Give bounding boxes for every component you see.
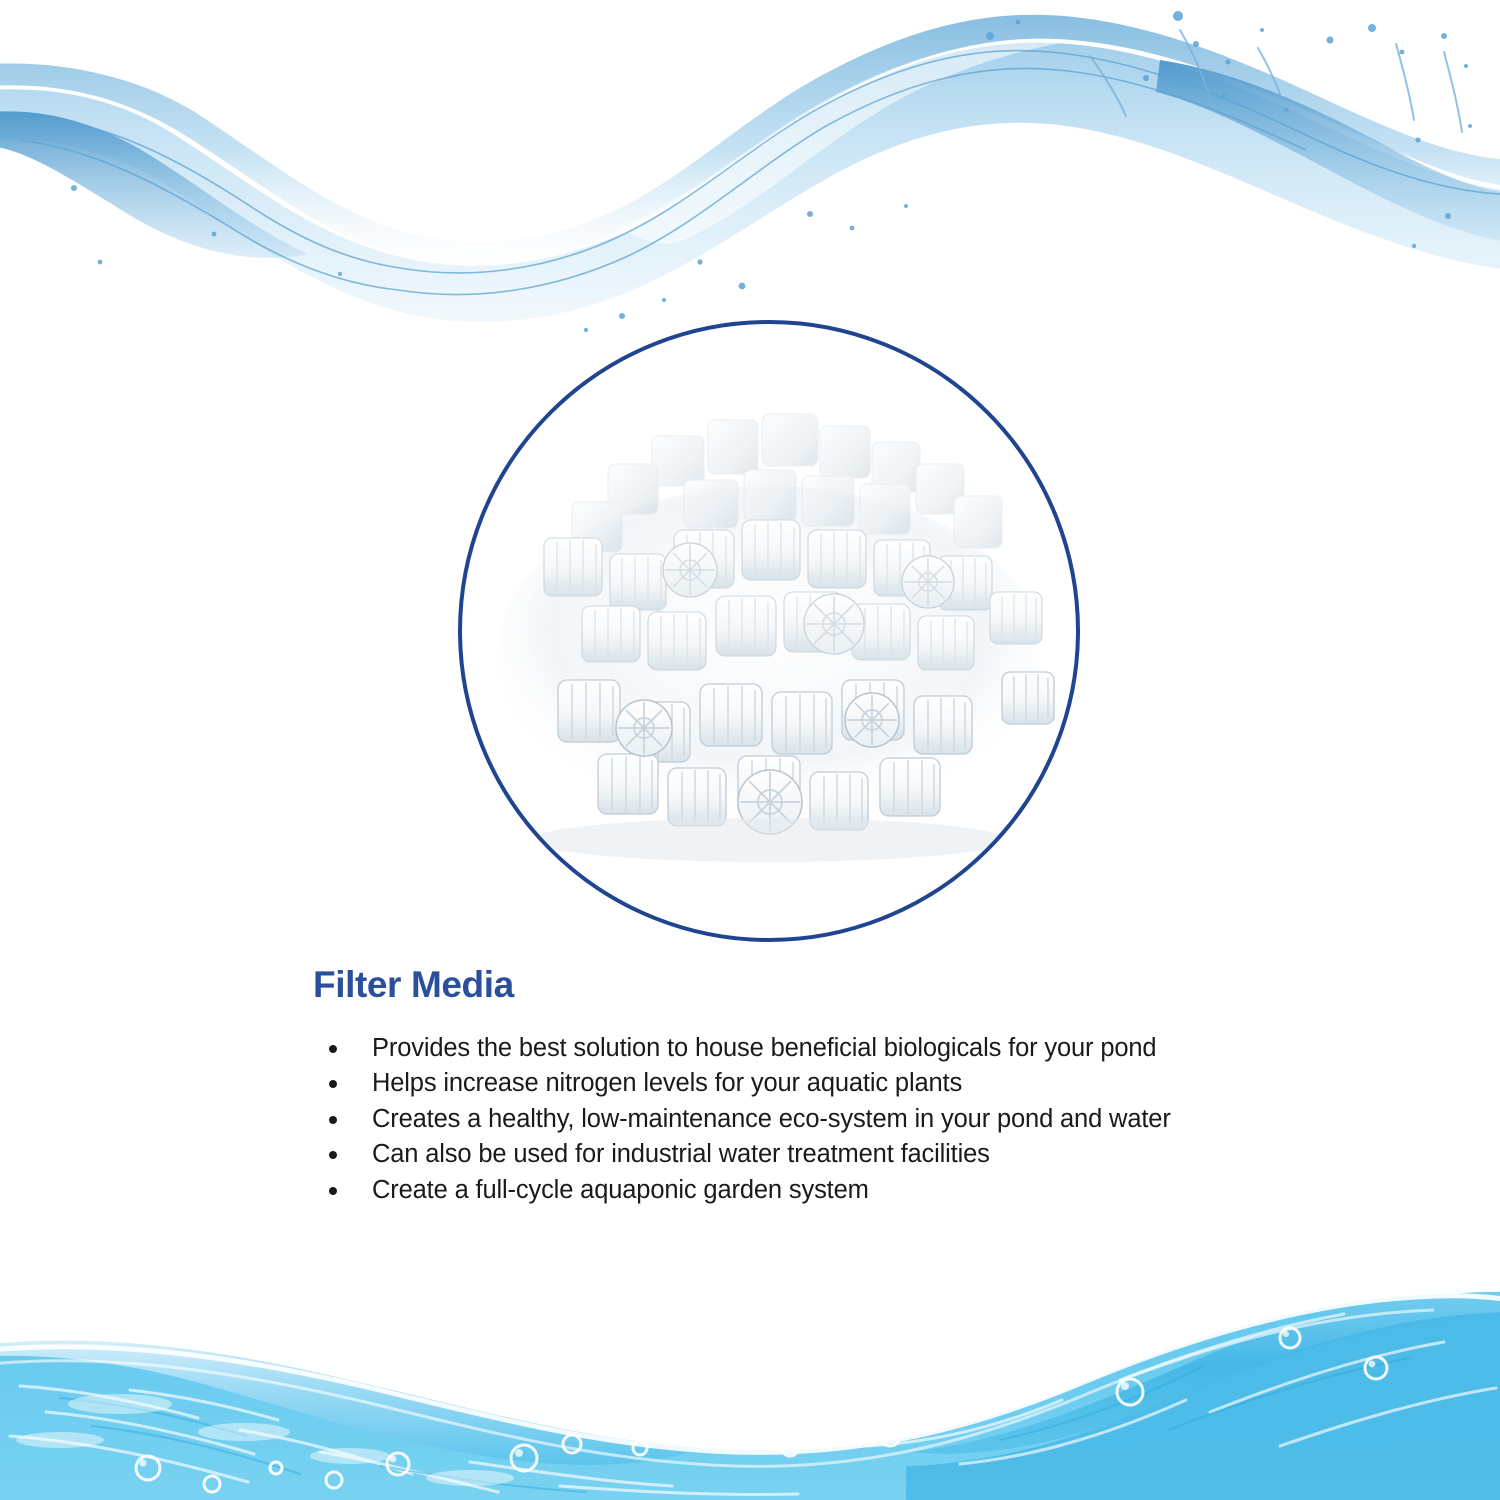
bullet-dot-icon <box>329 1151 337 1159</box>
page-title: Filter Media <box>313 966 1413 1005</box>
product-feature-page: Filter Media Provides the best solution … <box>0 0 1500 1500</box>
list-item: Helps increase nitrogen levels for your … <box>313 1066 1413 1102</box>
list-item-label: Can also be used for industrial water tr… <box>372 1140 990 1168</box>
bullet-dot-icon <box>329 1045 337 1053</box>
bullet-dot-icon <box>329 1187 337 1195</box>
list-item-label: Helps increase nitrogen levels for your … <box>372 1069 962 1097</box>
bullet-dot-icon <box>329 1116 337 1124</box>
filter-media-circle <box>458 320 1080 942</box>
list-item: Provides the best solution to house bene… <box>313 1031 1413 1067</box>
list-item-label: Creates a healthy, low-maintenance eco-s… <box>372 1105 1171 1133</box>
water-surface-banner <box>0 1240 1500 1500</box>
water-splash-banner <box>0 0 1500 340</box>
list-item: Create a full-cycle aquaponic garden sys… <box>313 1173 1413 1209</box>
bullet-dot-icon <box>329 1080 337 1088</box>
list-item-label: Create a full-cycle aquaponic garden sys… <box>372 1176 869 1204</box>
feature-content: Filter Media Provides the best solution … <box>313 966 1413 1208</box>
bio-media-pile-image <box>462 324 1076 938</box>
list-item: Can also be used for industrial water tr… <box>313 1137 1413 1173</box>
feature-bullet-list: Provides the best solution to house bene… <box>313 1031 1413 1209</box>
list-item: Creates a healthy, low-maintenance eco-s… <box>313 1102 1413 1138</box>
list-item-label: Provides the best solution to house bene… <box>372 1034 1156 1062</box>
